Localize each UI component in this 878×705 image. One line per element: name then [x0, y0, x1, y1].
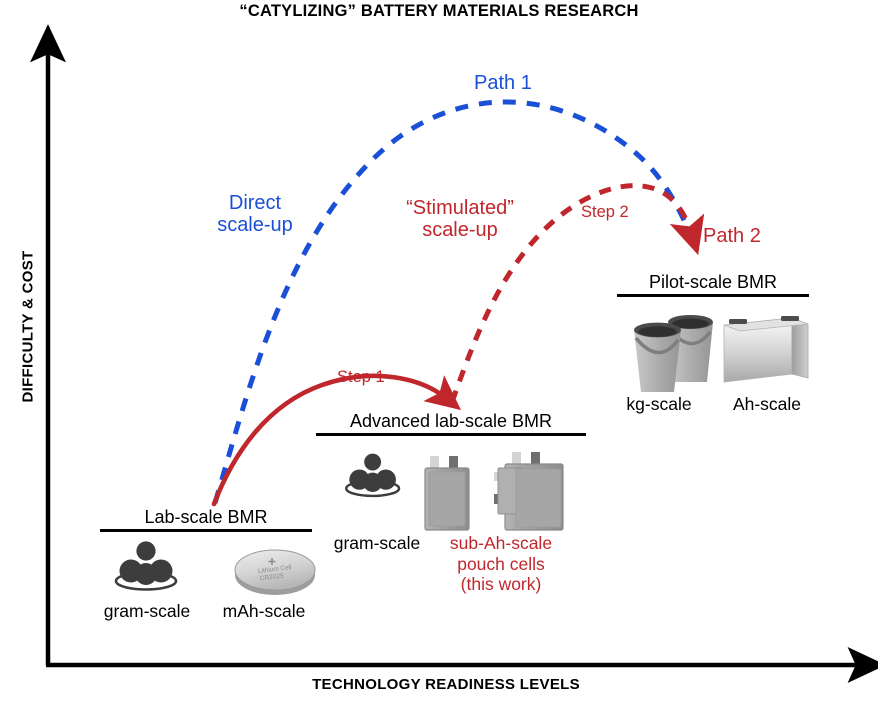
- y-axis-label: DIFFICULTY & COST: [20, 237, 37, 417]
- prismatic-cell-icon: [724, 316, 808, 382]
- pouch-cell-icon: [425, 452, 563, 530]
- step1-label: Step 1: [337, 368, 385, 387]
- powder-pile-icon-lab: [116, 541, 176, 589]
- figure-root: “CATYLIZING” BATTERY MATERIALS RESEARCH: [0, 0, 878, 705]
- path1-label: Path 1: [474, 72, 532, 95]
- coin-cell-icon: Lithium Cell CR2025: [235, 550, 315, 595]
- stimulated-scaleup-line2: scale-up: [385, 219, 535, 241]
- direct-scaleup-line2: scale-up: [190, 214, 320, 236]
- stimulated-scaleup-line1: “Stimulated”: [385, 197, 535, 219]
- figure-canvas: Lithium Cell CR2025: [0, 0, 878, 705]
- advanced-caption-line3: (this work): [434, 574, 568, 595]
- advanced-caption-line2: pouch cells: [434, 554, 568, 575]
- direct-scaleup-line1: Direct: [190, 192, 320, 214]
- pilot-caption-kg: kg-scale: [609, 394, 709, 415]
- advanced-lab-scale-header: Advanced lab-scale BMR: [316, 411, 586, 432]
- group-header-advanced-lab-scale: Advanced lab-scale BMR: [316, 411, 586, 436]
- advanced-lab-scale-header-rule: [316, 433, 586, 436]
- buckets-icon: [634, 315, 713, 392]
- pilot-scale-header-rule: [617, 294, 809, 297]
- lab-scale-header: Lab-scale BMR: [100, 507, 312, 528]
- pilot-scale-header: Pilot-scale BMR: [617, 272, 809, 293]
- lab-scale-caption-gram: gram-scale: [92, 601, 202, 622]
- step2-label: Step 2: [581, 203, 629, 222]
- path2-label: Path 2: [703, 225, 761, 248]
- x-axis-label: TECHNOLOGY READINESS LEVELS: [196, 676, 696, 693]
- group-header-pilot-scale: Pilot-scale BMR: [617, 272, 809, 297]
- powder-pile-icon-advanced: [346, 454, 399, 496]
- pilot-caption-ah: Ah-scale: [717, 394, 817, 415]
- step1-curve: [214, 376, 446, 504]
- path1-curve-direct-scaleup: [215, 102, 690, 503]
- group-header-lab-scale: Lab-scale BMR: [100, 507, 312, 532]
- lab-scale-header-rule: [100, 529, 312, 532]
- advanced-caption-gram: gram-scale: [322, 533, 432, 554]
- advanced-caption-line1: sub-Ah-scale: [434, 533, 568, 554]
- lab-scale-caption-mah: mAh-scale: [208, 601, 320, 622]
